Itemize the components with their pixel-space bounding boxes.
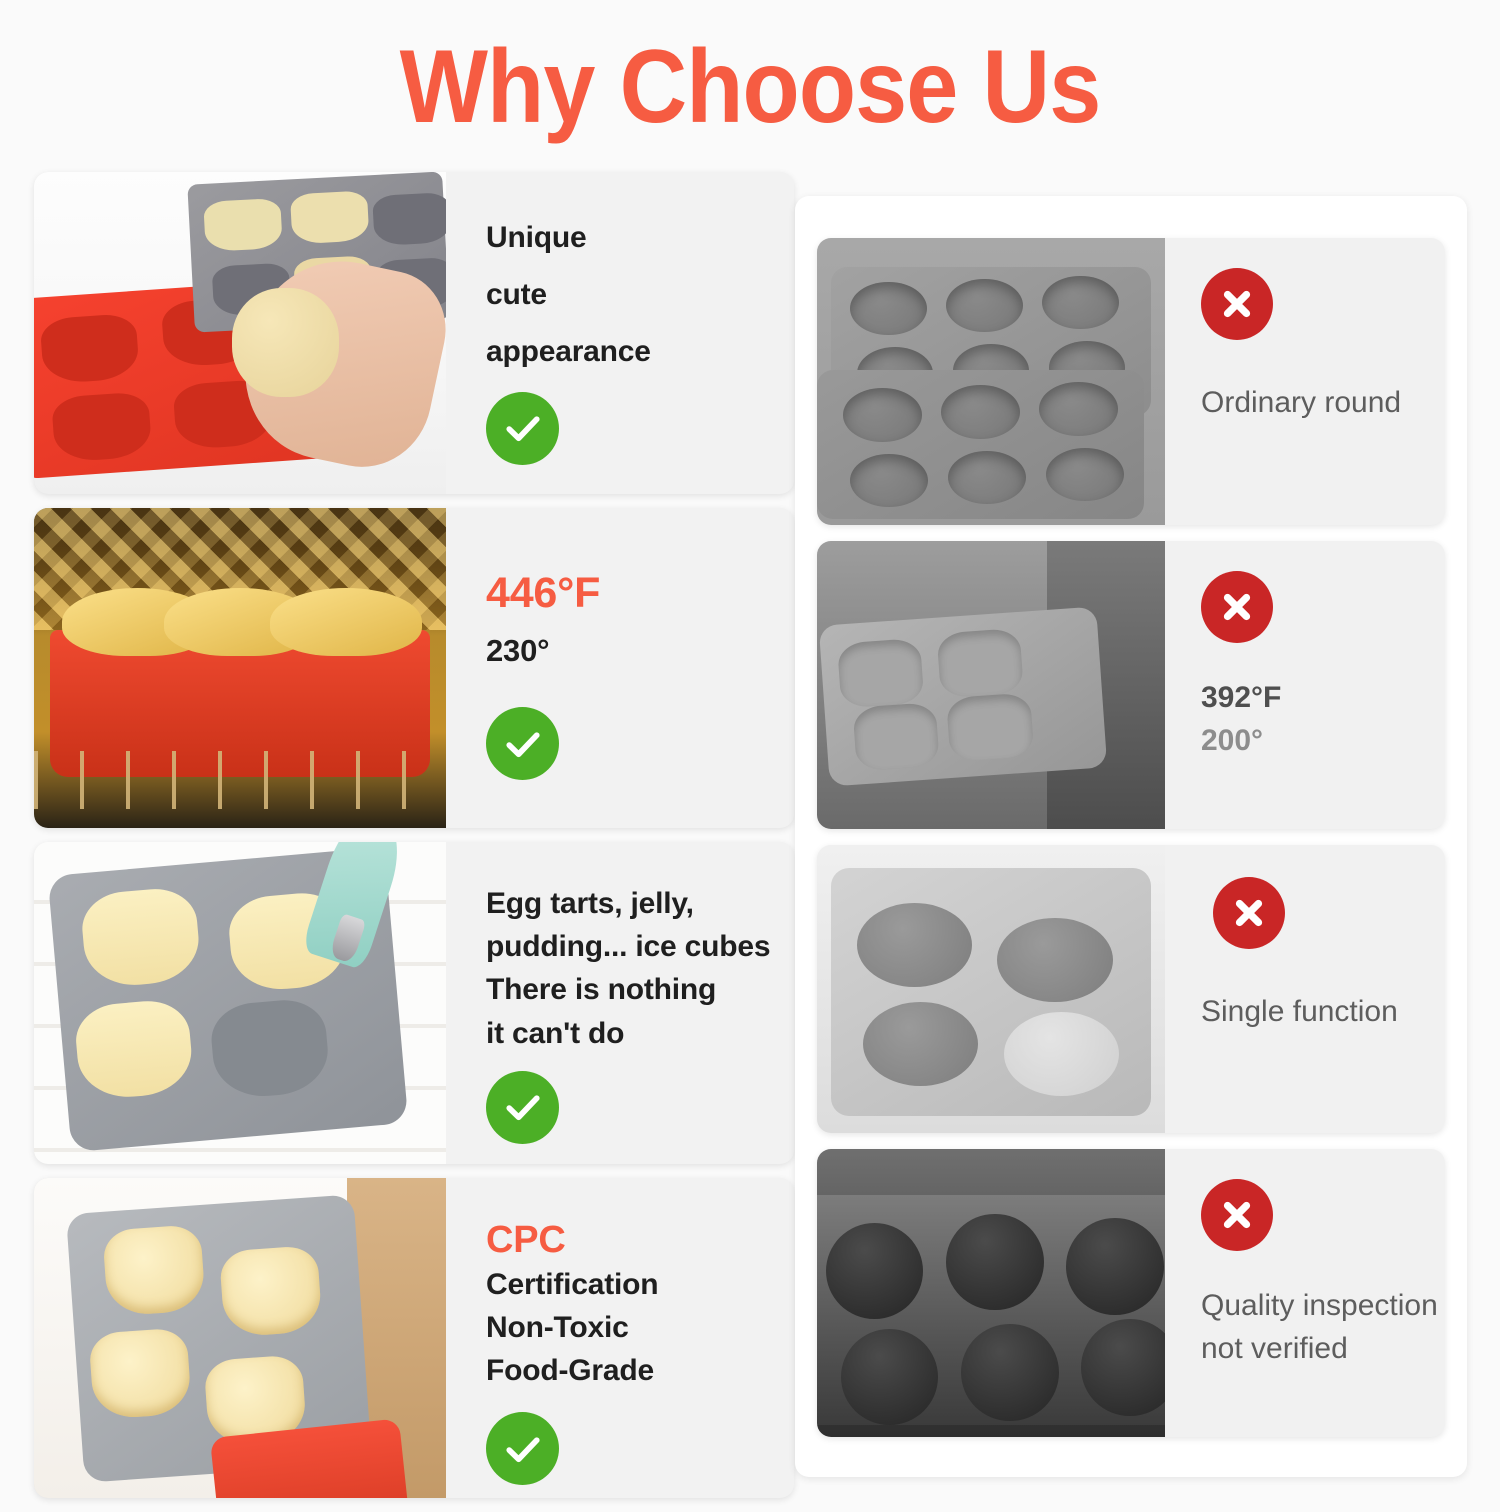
pro-line: pudding... ice cubes <box>486 925 794 968</box>
pro-text-certification: CPC Certification Non-Toxic Food-Grade <box>486 1218 794 1392</box>
pro-text-unique-appearance: Unique cute appearance <box>486 216 794 374</box>
con-body-ordinary-round: Ordinary round <box>1165 238 1445 525</box>
con-image-ordinary-round <box>817 238 1165 525</box>
pro-body-versatility: Egg tarts, jelly, pudding... ice cubes T… <box>446 842 794 1164</box>
pro-image-versatility <box>34 842 446 1164</box>
check-icon <box>486 1071 559 1144</box>
plain-mold-oven-illustration <box>817 541 1165 829</box>
pro-text-versatility: Egg tarts, jelly, pudding... ice cubes T… <box>486 882 794 1055</box>
con-card-quality-inspection[interactable]: Quality inspection not verified <box>817 1149 1445 1437</box>
pro-accent-line: 446°F <box>486 568 794 619</box>
check-icon <box>486 392 559 465</box>
pro-body-certification: CPC Certification Non-Toxic Food-Grade <box>446 1178 794 1498</box>
con-line: not verified <box>1201 1328 1445 1371</box>
round-muffin-pans-illustration <box>817 238 1165 525</box>
cross-icon <box>1201 571 1273 643</box>
pro-card-unique-appearance[interactable]: Unique cute appearance <box>34 172 794 494</box>
con-image-single-function <box>817 845 1165 1133</box>
pro-card-temperature[interactable]: 446°F 230° <box>34 508 794 828</box>
pro-body-temperature: 446°F 230° <box>446 508 794 828</box>
cons-column: Ordinary round 392°F 200° <box>795 196 1467 1477</box>
pros-column: Unique cute appearance 446°F 230° <box>34 172 794 1512</box>
pro-line: There is nothing <box>486 968 794 1011</box>
dark-muffin-pan-illustration <box>817 1149 1165 1437</box>
pro-line: cute <box>486 273 794 316</box>
pro-image-unique-appearance <box>34 172 446 494</box>
pro-body-unique-appearance: Unique cute appearance <box>446 172 794 494</box>
silicone-mold-photo-illustration <box>34 172 446 494</box>
baked-muffins-photo-illustration <box>34 1178 446 1498</box>
con-body-temperature: 392°F 200° <box>1165 541 1445 829</box>
pro-card-versatility[interactable]: Egg tarts, jelly, pudding... ice cubes T… <box>34 842 794 1164</box>
pro-card-certification[interactable]: CPC Certification Non-Toxic Food-Grade <box>34 1178 794 1498</box>
pro-accent-line: CPC <box>486 1218 794 1263</box>
piping-batter-photo-illustration <box>34 842 446 1164</box>
con-line: 200° <box>1201 720 1445 763</box>
cross-icon <box>1201 1179 1273 1251</box>
cross-icon <box>1213 877 1285 949</box>
con-body-single-function: Single function <box>1165 845 1445 1133</box>
con-line: 392°F <box>1201 677 1445 720</box>
con-line: Ordinary round <box>1201 382 1445 425</box>
con-card-temperature[interactable]: 392°F 200° <box>817 541 1445 829</box>
pro-line: 230° <box>486 629 794 674</box>
con-card-ordinary-round[interactable]: Ordinary round <box>817 238 1445 525</box>
pro-image-temperature <box>34 508 446 828</box>
oven-baking-photo-illustration <box>34 508 446 828</box>
pro-line: Food-Grade <box>486 1349 794 1392</box>
round-muffins-illustration <box>817 845 1165 1133</box>
con-line: Quality inspection <box>1201 1285 1445 1328</box>
con-card-single-function[interactable]: Single function <box>817 845 1445 1133</box>
pro-line: Egg tarts, jelly, <box>486 882 794 925</box>
pro-line: Certification <box>486 1263 794 1306</box>
pro-line: Unique <box>486 216 794 259</box>
con-image-quality-inspection <box>817 1149 1165 1437</box>
pro-image-certification <box>34 1178 446 1498</box>
pro-line: Non-Toxic <box>486 1306 794 1349</box>
check-icon <box>486 1412 559 1485</box>
con-line: Single function <box>1201 991 1445 1034</box>
pro-text-temperature: 446°F 230° <box>486 568 794 673</box>
page-title: Why Choose Us <box>75 28 1425 147</box>
pro-line: appearance <box>486 330 794 373</box>
check-icon <box>486 707 559 780</box>
pro-line: it can't do <box>486 1012 794 1055</box>
con-body-quality-inspection: Quality inspection not verified <box>1165 1149 1445 1437</box>
cross-icon <box>1201 268 1273 340</box>
con-image-temperature <box>817 541 1165 829</box>
